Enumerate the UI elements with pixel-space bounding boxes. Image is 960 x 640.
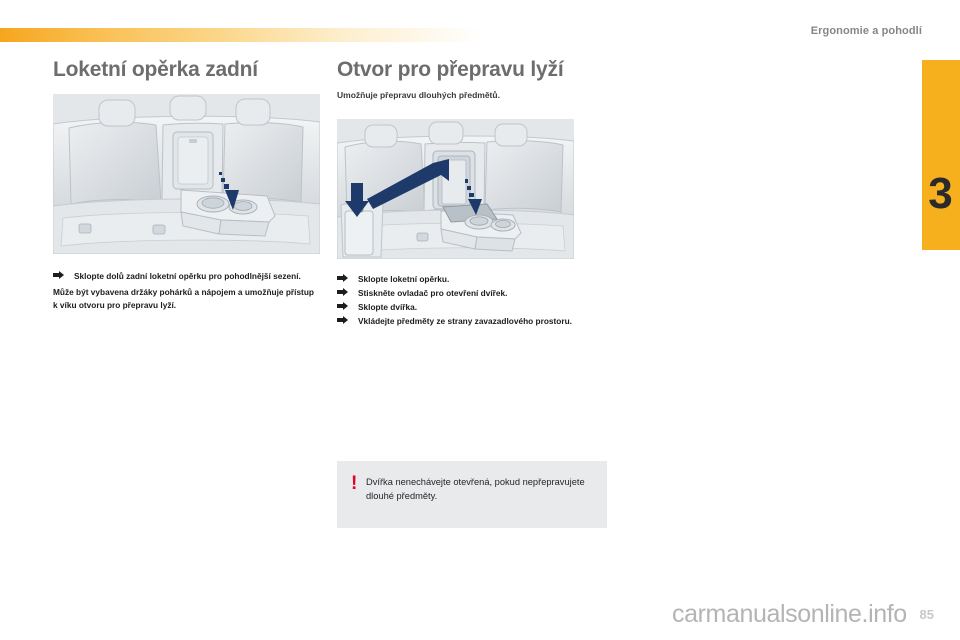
right-section-subtitle: Umožňuje přepravu dlouhých předmětů. [337, 90, 607, 101]
list-item-text: Sklopte loketní opěrku. [358, 274, 449, 284]
arrow-bullet-icon [337, 316, 349, 325]
list-item: Stiskněte ovladač pro otevření dvířek. [337, 287, 607, 299]
site-watermark: carmanualsonline.info [672, 600, 907, 629]
arrow-bullet-icon [337, 288, 349, 297]
left-column: Loketní opěrka zadní [53, 58, 320, 311]
rear-armrest-figure [53, 94, 320, 254]
left-bullet-list: Sklopte dolů zadní loketní opěrku pro po… [53, 270, 320, 282]
chapter-number: 3 [922, 172, 958, 216]
arrow-bullet-icon [337, 302, 349, 311]
rear-armrest-illustration [53, 94, 320, 254]
ski-hatch-illustration [337, 119, 574, 259]
list-item-text: Stiskněte ovladač pro otevření dvířek. [358, 288, 507, 298]
left-paragraph: Může být vybavena držáky pohárků a nápoj… [53, 286, 320, 311]
list-item-text: Sklopte dolů zadní loketní opěrku pro po… [74, 271, 301, 281]
list-item: Vkládejte předměty ze strany zavazadlové… [337, 315, 607, 327]
chapter-header-label: Ergonomie a pohodlí [811, 25, 922, 37]
list-item: Sklopte dvířka. [337, 301, 607, 313]
right-column: Otvor pro přepravu lyží Umožňuje přeprav… [337, 58, 607, 329]
warning-text: Dvířka nenechávejte otevřená, pokud nepř… [366, 475, 591, 504]
list-item: Sklopte dolů zadní loketní opěrku pro po… [53, 270, 320, 282]
list-item-text: Vkládejte předměty ze strany zavazadlové… [358, 316, 572, 326]
header-gradient-bar [0, 28, 482, 42]
list-item-text: Sklopte dvířka. [358, 302, 417, 312]
list-item: Sklopte loketní opěrku. [337, 273, 607, 285]
left-section-title: Loketní opěrka zadní [53, 58, 320, 81]
arrow-bullet-icon [53, 271, 65, 280]
arrow-bullet-icon [337, 274, 349, 283]
warning-callout: ! Dvířka nenechávejte otevřená, pokud ne… [337, 461, 607, 528]
page-number: 85 [920, 607, 934, 622]
right-section-title: Otvor pro přepravu lyží [337, 58, 607, 81]
chapter-tab [922, 60, 960, 250]
right-bullet-list: Sklopte loketní opěrku. Stiskněte ovlada… [337, 273, 607, 327]
ski-hatch-figure [337, 119, 574, 259]
exclamation-icon: ! [351, 475, 366, 504]
